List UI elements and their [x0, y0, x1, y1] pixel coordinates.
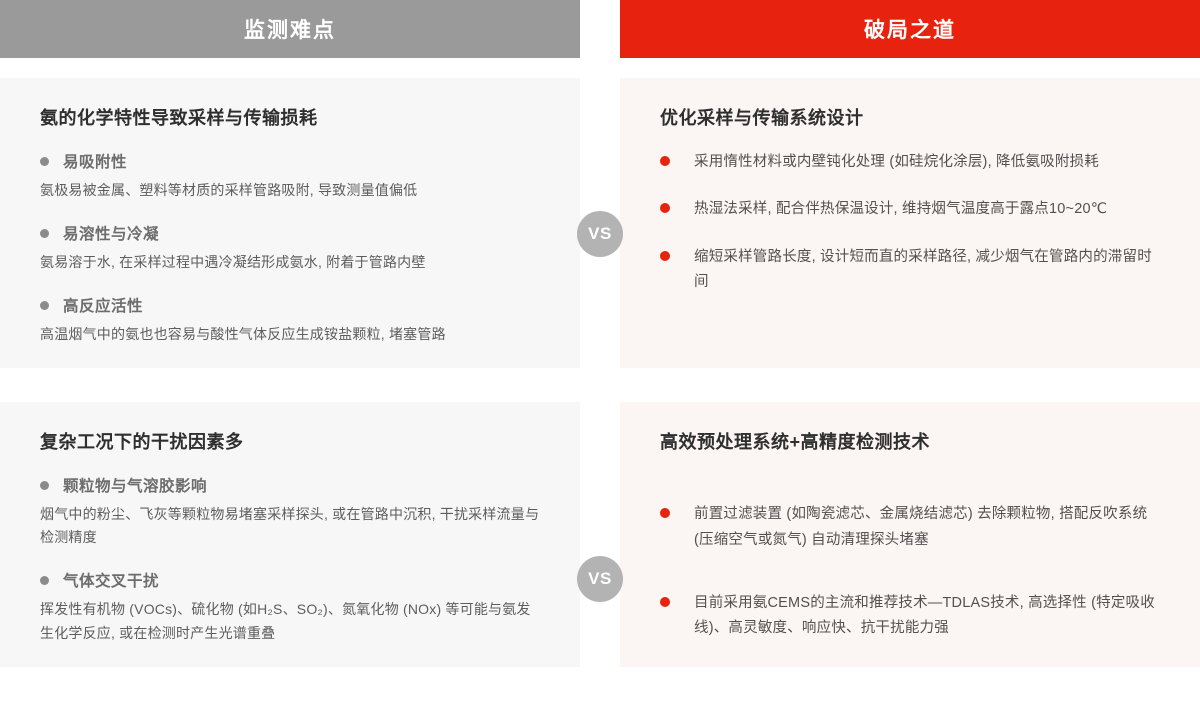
- bullet-dot-icon: [660, 597, 670, 607]
- solution-list-item: 缩短采样管路长度, 设计短而直的采样路径, 减少烟气在管路内的滞留时间: [660, 245, 1160, 296]
- solution-item-text: 目前采用氨CEMS的主流和推荐技术—TDLAS技术, 高选择性 (特定吸收线)、…: [694, 591, 1160, 642]
- problem-block-label: 高反应活性: [63, 294, 143, 316]
- problem-block-description: 氨易溶于水, 在采样过程中遇冷凝结形成氨水, 附着于管路内壁: [40, 251, 540, 274]
- problem-block-heading: 高反应活性: [40, 294, 540, 316]
- header-spacer: [580, 0, 620, 58]
- solution-item-text: 前置过滤装置 (如陶瓷滤芯、金属烧结滤芯) 去除颗粒物, 搭配反吹系统 (压缩空…: [694, 502, 1160, 553]
- row-spacer: [580, 402, 620, 666]
- bullet-dot-icon: [660, 203, 670, 213]
- solution-list-item: 目前采用氨CEMS的主流和推荐技术—TDLAS技术, 高选择性 (特定吸收线)、…: [660, 591, 1160, 642]
- bullet-dot-icon: [40, 157, 49, 166]
- problem-block-heading: 易溶性与冷凝: [40, 222, 540, 244]
- problem-block-heading: 颗粒物与气溶胶影响: [40, 474, 540, 496]
- solution-card-2-spacer: [660, 474, 1160, 502]
- header-problem-title: 监测难点: [0, 0, 580, 58]
- problem-card-2-title: 复杂工况下的干扰因素多: [40, 428, 540, 454]
- bullet-dot-icon: [40, 481, 49, 490]
- solution-card-2: 高效预处理系统+高精度检测技术 前置过滤装置 (如陶瓷滤芯、金属烧结滤芯) 去除…: [620, 402, 1200, 666]
- problem-block: 易溶性与冷凝 氨易溶于水, 在采样过程中遇冷凝结形成氨水, 附着于管路内壁: [40, 222, 540, 274]
- problem-block-description: 烟气中的粉尘、飞灰等颗粒物易堵塞采样探头, 或在管路中沉积, 干扰采样流量与检测…: [40, 503, 540, 549]
- header-solution-title: 破局之道: [620, 0, 1200, 58]
- problem-block-label: 易吸附性: [63, 150, 127, 172]
- solution-item-spacer: [660, 575, 1160, 591]
- vs-badge-row-2: VS: [577, 556, 623, 602]
- problem-card-1-title: 氨的化学特性导致采样与传输损耗: [40, 104, 540, 130]
- bullet-dot-icon: [660, 251, 670, 261]
- bullet-dot-icon: [660, 508, 670, 518]
- bullet-dot-icon: [40, 576, 49, 585]
- header-row: 监测难点 破局之道: [0, 0, 1200, 58]
- bullet-dot-icon: [40, 301, 49, 310]
- solution-item-text: 采用惰性材料或内壁钝化处理 (如硅烷化涂层), 降低氨吸附损耗: [694, 150, 1099, 175]
- problem-block-label: 易溶性与冷凝: [63, 222, 159, 244]
- problem-block: 高反应活性 高温烟气中的氨也也容易与酸性气体反应生成铵盐颗粒, 堵塞管路: [40, 294, 540, 346]
- solution-list-item: 热湿法采样, 配合伴热保温设计, 维持烟气温度高于露点10~20℃: [660, 197, 1160, 222]
- problem-card-1: 氨的化学特性导致采样与传输损耗 易吸附性 氨极易被金属、塑料等材质的采样管路吸附…: [0, 78, 580, 368]
- vs-badge-row-1: VS: [577, 211, 623, 257]
- problem-block-description: 高温烟气中的氨也也容易与酸性气体反应生成铵盐颗粒, 堵塞管路: [40, 323, 540, 346]
- problem-block-label: 颗粒物与气溶胶影响: [63, 474, 207, 496]
- solution-list-item: 前置过滤装置 (如陶瓷滤芯、金属烧结滤芯) 去除颗粒物, 搭配反吹系统 (压缩空…: [660, 502, 1160, 553]
- solution-card-1-title: 优化采样与传输系统设计: [660, 104, 1160, 130]
- solution-card-2-title: 高效预处理系统+高精度检测技术: [660, 428, 1160, 454]
- solution-item-text: 缩短采样管路长度, 设计短而直的采样路径, 减少烟气在管路内的滞留时间: [694, 245, 1160, 296]
- problem-card-2: 复杂工况下的干扰因素多 颗粒物与气溶胶影响 烟气中的粉尘、飞灰等颗粒物易堵塞采样…: [0, 402, 580, 666]
- problem-block: 气体交叉干扰 挥发性有机物 (VOCs)、硫化物 (如H₂S、SO₂)、氮氧化物…: [40, 569, 540, 644]
- solution-list-item: 采用惰性材料或内壁钝化处理 (如硅烷化涂层), 降低氨吸附损耗: [660, 150, 1160, 175]
- problem-block: 颗粒物与气溶胶影响 烟气中的粉尘、飞灰等颗粒物易堵塞采样探头, 或在管路中沉积,…: [40, 474, 540, 549]
- comparison-row-2: 复杂工况下的干扰因素多 颗粒物与气溶胶影响 烟气中的粉尘、飞灰等颗粒物易堵塞采样…: [0, 402, 1200, 666]
- solution-item-text: 热湿法采样, 配合伴热保温设计, 维持烟气温度高于露点10~20℃: [694, 197, 1107, 222]
- bullet-dot-icon: [660, 156, 670, 166]
- problem-block-heading: 易吸附性: [40, 150, 540, 172]
- problem-block-description: 挥发性有机物 (VOCs)、硫化物 (如H₂S、SO₂)、氮氧化物 (NOx) …: [40, 598, 540, 644]
- comparison-board: 监测难点 破局之道 氨的化学特性导致采样与传输损耗 易吸附性 氨极易被金属、塑料…: [0, 0, 1200, 717]
- solution-card-1: 优化采样与传输系统设计 采用惰性材料或内壁钝化处理 (如硅烷化涂层), 降低氨吸…: [620, 78, 1200, 368]
- problem-block-heading: 气体交叉干扰: [40, 569, 540, 591]
- problem-block-description: 氨极易被金属、塑料等材质的采样管路吸附, 导致测量值偏低: [40, 179, 540, 202]
- bullet-dot-icon: [40, 229, 49, 238]
- problem-block-label: 气体交叉干扰: [63, 569, 159, 591]
- problem-block: 易吸附性 氨极易被金属、塑料等材质的采样管路吸附, 导致测量值偏低: [40, 150, 540, 202]
